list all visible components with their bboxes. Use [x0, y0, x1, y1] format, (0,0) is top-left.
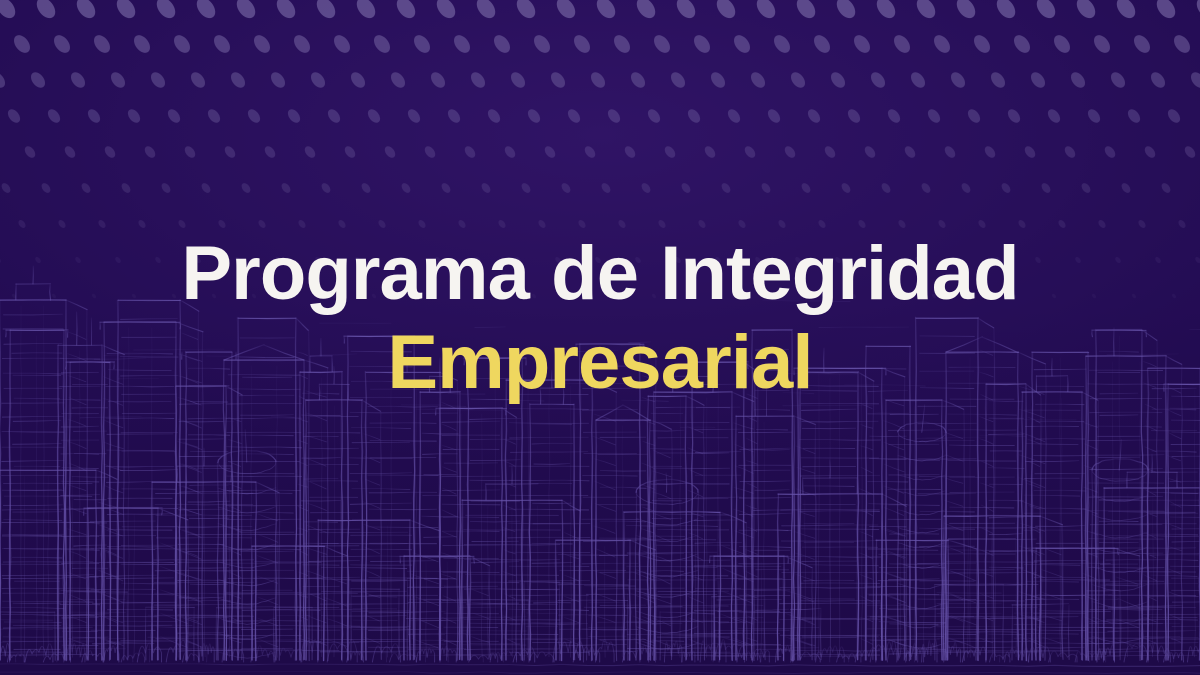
title-block: Programa de Integridad Empresarial: [0, 236, 1200, 401]
page-title-line-1: Programa de Integridad: [0, 236, 1200, 312]
page-title-line-2-accent: Empresarial: [0, 325, 1200, 401]
title-slide: Programa de Integridad Empresarial: [0, 0, 1200, 675]
